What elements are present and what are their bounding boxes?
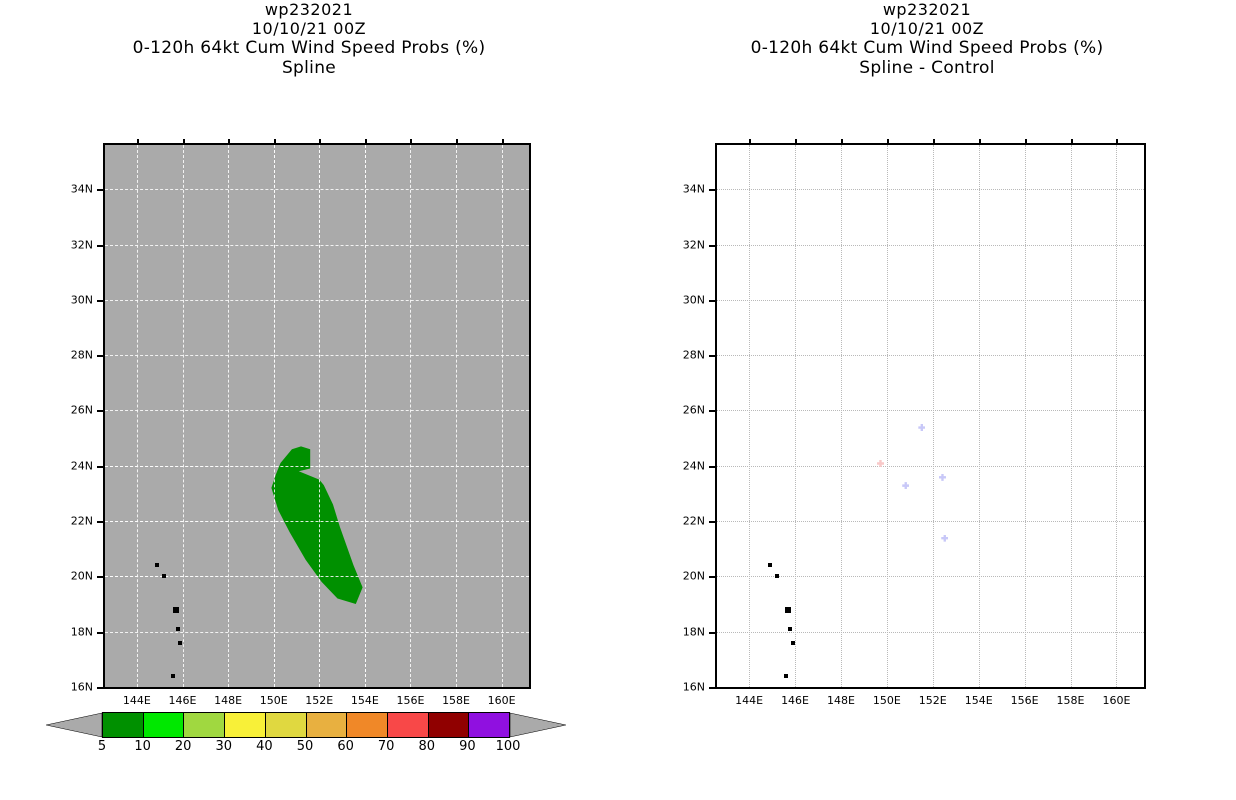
xtick-mark — [841, 139, 843, 145]
ytick-mark — [709, 521, 716, 523]
gridline-vertical-overlay — [319, 145, 320, 687]
gridline-horizontal — [105, 687, 529, 688]
gridline-horizontal — [717, 245, 1144, 246]
ytick-mark — [97, 245, 104, 247]
gridline-vertical — [1025, 145, 1026, 687]
island-marker — [768, 563, 772, 567]
colorbar-tick-label: 90 — [445, 739, 489, 754]
main-title-right: 0-120h 64kt Cum Wind Speed Probs (%) — [618, 38, 1236, 58]
gridline-vertical — [1116, 145, 1117, 687]
ytick-mark — [97, 300, 104, 302]
gridline-horizontal-overlay — [105, 466, 529, 467]
colorbar-tick-label: 60 — [324, 739, 368, 754]
difference-speck — [941, 535, 948, 542]
colorbar-block[interactable] — [307, 713, 348, 737]
island-marker — [171, 674, 175, 678]
ytick-label: 24N — [47, 459, 93, 472]
panel-titles-left: wp232021 10/10/21 00Z 0-120h 64kt Cum Wi… — [0, 0, 618, 78]
xtick-label: 150E — [250, 694, 298, 707]
panel-spline: wp232021 10/10/21 00Z 0-120h 64kt Cum Wi… — [0, 0, 618, 800]
xtick-mark — [795, 139, 797, 145]
xtick-mark — [502, 139, 504, 145]
gridline-horizontal — [717, 466, 1144, 467]
colorbar-tick-label: 20 — [161, 739, 205, 754]
gridline-vertical — [887, 145, 888, 687]
xtick-label: 158E — [432, 694, 480, 707]
ytick-mark — [97, 466, 104, 468]
ytick-mark — [97, 632, 104, 634]
island-marker — [785, 607, 791, 613]
ytick-mark — [709, 687, 716, 689]
colorbar-probability-blocks[interactable] — [102, 712, 510, 738]
xtick-mark — [887, 139, 889, 145]
ytick-mark — [97, 355, 104, 357]
ytick-label: 22N — [47, 515, 93, 528]
ytick-mark — [709, 189, 716, 191]
xtick-label: 160E — [1092, 694, 1140, 707]
ytick-mark — [97, 189, 104, 191]
ytick-label: 30N — [47, 293, 93, 306]
island-marker — [178, 641, 182, 645]
ytick-label: 26N — [47, 404, 93, 417]
gridline-vertical — [979, 145, 980, 687]
difference-speck — [902, 482, 909, 489]
gridline-horizontal-overlay — [105, 521, 529, 522]
gridline-vertical — [1071, 145, 1072, 687]
ytick-mark — [709, 576, 716, 578]
gridline-horizontal — [717, 687, 1144, 688]
ytick-mark — [97, 410, 104, 412]
panel-spline-minus-control: wp232021 10/10/21 00Z 0-120h 64kt Cum Wi… — [618, 0, 1236, 800]
xtick-label: 146E — [771, 694, 819, 707]
colorbar-tick-label: 80 — [405, 739, 449, 754]
colorbar-block[interactable] — [144, 713, 185, 737]
ytick-mark — [97, 687, 104, 689]
ytick-label: 30N — [659, 293, 705, 306]
xtick-label: 146E — [159, 694, 207, 707]
gridline-vertical-overlay — [365, 145, 366, 687]
map-plot-difference[interactable] — [715, 143, 1146, 689]
ytick-mark — [709, 466, 716, 468]
ytick-label: 22N — [659, 515, 705, 528]
xtick-label: 144E — [725, 694, 773, 707]
xtick-label: 158E — [1047, 694, 1095, 707]
xtick-label: 152E — [295, 694, 343, 707]
island-marker — [788, 627, 792, 631]
valid-datetime-left: 10/10/21 00Z — [0, 19, 618, 38]
ytick-label: 34N — [659, 183, 705, 196]
gridline-vertical — [933, 145, 934, 687]
sub-title-left: Spline — [0, 58, 618, 78]
colorbar-block[interactable] — [347, 713, 388, 737]
storm-id-right: wp232021 — [618, 0, 1236, 19]
ytick-mark — [709, 300, 716, 302]
ytick-label: 16N — [47, 681, 93, 694]
ytick-label: 34N — [47, 183, 93, 196]
colorbar-low-arrow-icon — [46, 712, 102, 738]
panel-titles-right: wp232021 10/10/21 00Z 0-120h 64kt Cum Wi… — [618, 0, 1236, 78]
ytick-label: 28N — [659, 349, 705, 362]
gridline-vertical — [841, 145, 842, 687]
island-marker — [155, 563, 159, 567]
difference-speck — [918, 424, 925, 431]
colorbar-probability-ticks: 5102030405060708090100 — [46, 739, 566, 761]
xtick-mark — [933, 139, 935, 145]
xtick-mark — [1116, 139, 1118, 145]
xtick-mark — [183, 139, 185, 145]
colorbar-block[interactable] — [388, 713, 429, 737]
gridline-horizontal — [717, 521, 1144, 522]
xtick-label: 154E — [955, 694, 1003, 707]
colorbar-tick-label: 10 — [121, 739, 165, 754]
island-marker — [162, 574, 166, 578]
xtick-label: 156E — [1001, 694, 1049, 707]
xtick-label: 148E — [204, 694, 252, 707]
ytick-mark — [709, 632, 716, 634]
colorbar-high-arrow-icon — [510, 712, 566, 738]
xtick-mark — [1071, 139, 1073, 145]
probability-contour-region — [105, 145, 529, 687]
island-marker — [173, 607, 179, 613]
xtick-mark — [1025, 139, 1027, 145]
ytick-label: 26N — [659, 404, 705, 417]
xtick-label: 148E — [817, 694, 865, 707]
ytick-label: 32N — [47, 238, 93, 251]
colorbar-tick-label: 70 — [364, 739, 408, 754]
xtick-label: 160E — [478, 694, 526, 707]
island-marker — [176, 627, 180, 631]
ytick-mark — [709, 410, 716, 412]
xtick-mark — [979, 139, 981, 145]
ytick-label: 32N — [659, 238, 705, 251]
colorbar-block[interactable] — [225, 713, 266, 737]
colorbar-block[interactable] — [429, 713, 470, 737]
colorbar-block[interactable] — [266, 713, 307, 737]
ytick-label: 18N — [659, 625, 705, 638]
island-marker — [791, 641, 795, 645]
main-title-left: 0-120h 64kt Cum Wind Speed Probs (%) — [0, 38, 618, 58]
island-marker — [784, 674, 788, 678]
island-marker — [775, 574, 779, 578]
xtick-label: 154E — [341, 694, 389, 707]
valid-datetime-right: 10/10/21 00Z — [618, 19, 1236, 38]
gridline-horizontal — [717, 355, 1144, 356]
storm-id-left: wp232021 — [0, 0, 618, 19]
ytick-label: 18N — [47, 625, 93, 638]
xtick-label: 150E — [863, 694, 911, 707]
contour-polygon-5-10 — [271, 446, 362, 604]
ytick-label: 20N — [659, 570, 705, 583]
gridline-horizontal — [717, 300, 1144, 301]
map-plot-spline[interactable] — [103, 143, 531, 689]
xtick-mark — [228, 139, 230, 145]
gridline-horizontal — [717, 576, 1144, 577]
ytick-mark — [97, 521, 104, 523]
ytick-label: 28N — [47, 349, 93, 362]
colorbar-probability[interactable]: 5102030405060708090100 — [46, 712, 566, 772]
xtick-mark — [749, 139, 751, 145]
gridline-vertical-overlay — [274, 145, 275, 687]
ytick-label: 16N — [659, 681, 705, 694]
colorbar-tick-label: 5 — [80, 739, 124, 754]
colorbar-block[interactable] — [469, 713, 509, 737]
ytick-label: 24N — [659, 459, 705, 472]
ytick-mark — [97, 576, 104, 578]
xtick-mark — [137, 139, 139, 145]
gridline-horizontal-overlay — [105, 576, 529, 577]
colorbar-tick-label: 30 — [202, 739, 246, 754]
colorbar-tick-label: 100 — [486, 739, 530, 754]
ytick-mark — [709, 245, 716, 247]
gridline-horizontal — [717, 410, 1144, 411]
xtick-label: 144E — [113, 694, 161, 707]
ytick-mark — [709, 355, 716, 357]
xtick-label: 152E — [909, 694, 957, 707]
gridline-vertical — [795, 145, 796, 687]
gridline-horizontal — [717, 189, 1144, 190]
sub-title-right: Spline - Control — [618, 58, 1236, 78]
colorbar-block[interactable] — [184, 713, 225, 737]
colorbar-tick-label: 40 — [242, 739, 286, 754]
colorbar-tick-label: 50 — [283, 739, 327, 754]
xtick-mark — [456, 139, 458, 145]
colorbar-block[interactable] — [103, 713, 144, 737]
xtick-mark — [410, 139, 412, 145]
ytick-label: 20N — [47, 570, 93, 583]
difference-speck — [939, 474, 946, 481]
gridline-vertical — [749, 145, 750, 687]
xtick-label: 156E — [386, 694, 434, 707]
gridline-horizontal — [717, 632, 1144, 633]
